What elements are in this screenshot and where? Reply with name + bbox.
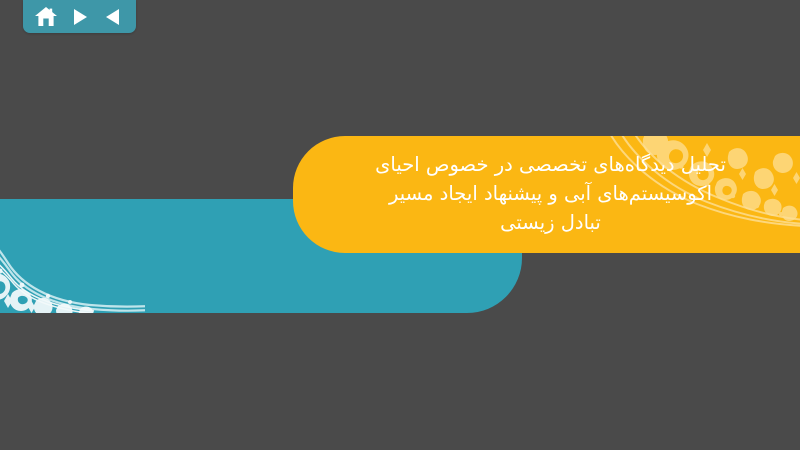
slide-title: تحلیل دیدگاه‌های تخصصی در خصوص احیای اکو… [293, 136, 800, 253]
title-line-3: تبادل زیستی [500, 208, 601, 237]
home-icon [35, 7, 57, 27]
previous-slide-button[interactable] [100, 5, 127, 29]
title-line-2: اکوسیستم‌های آبی و پیشنهاد ایجاد مسیر [389, 179, 712, 208]
slide-canvas: تحلیل دیدگاه‌های تخصصی در خصوص احیای اکو… [0, 0, 800, 450]
title-line-1: تحلیل دیدگاه‌های تخصصی در خصوص احیای [375, 150, 726, 179]
previous-slide-icon [105, 8, 122, 26]
home-button[interactable] [32, 5, 59, 29]
slide-navigation-bar [23, 0, 136, 33]
arabesque-ornament-bottom-left-icon [0, 201, 145, 313]
next-slide-button[interactable] [66, 5, 93, 29]
title-banner-panel: تحلیل دیدگاه‌های تخصصی در خصوص احیای اکو… [293, 136, 800, 253]
next-slide-icon [71, 8, 88, 26]
